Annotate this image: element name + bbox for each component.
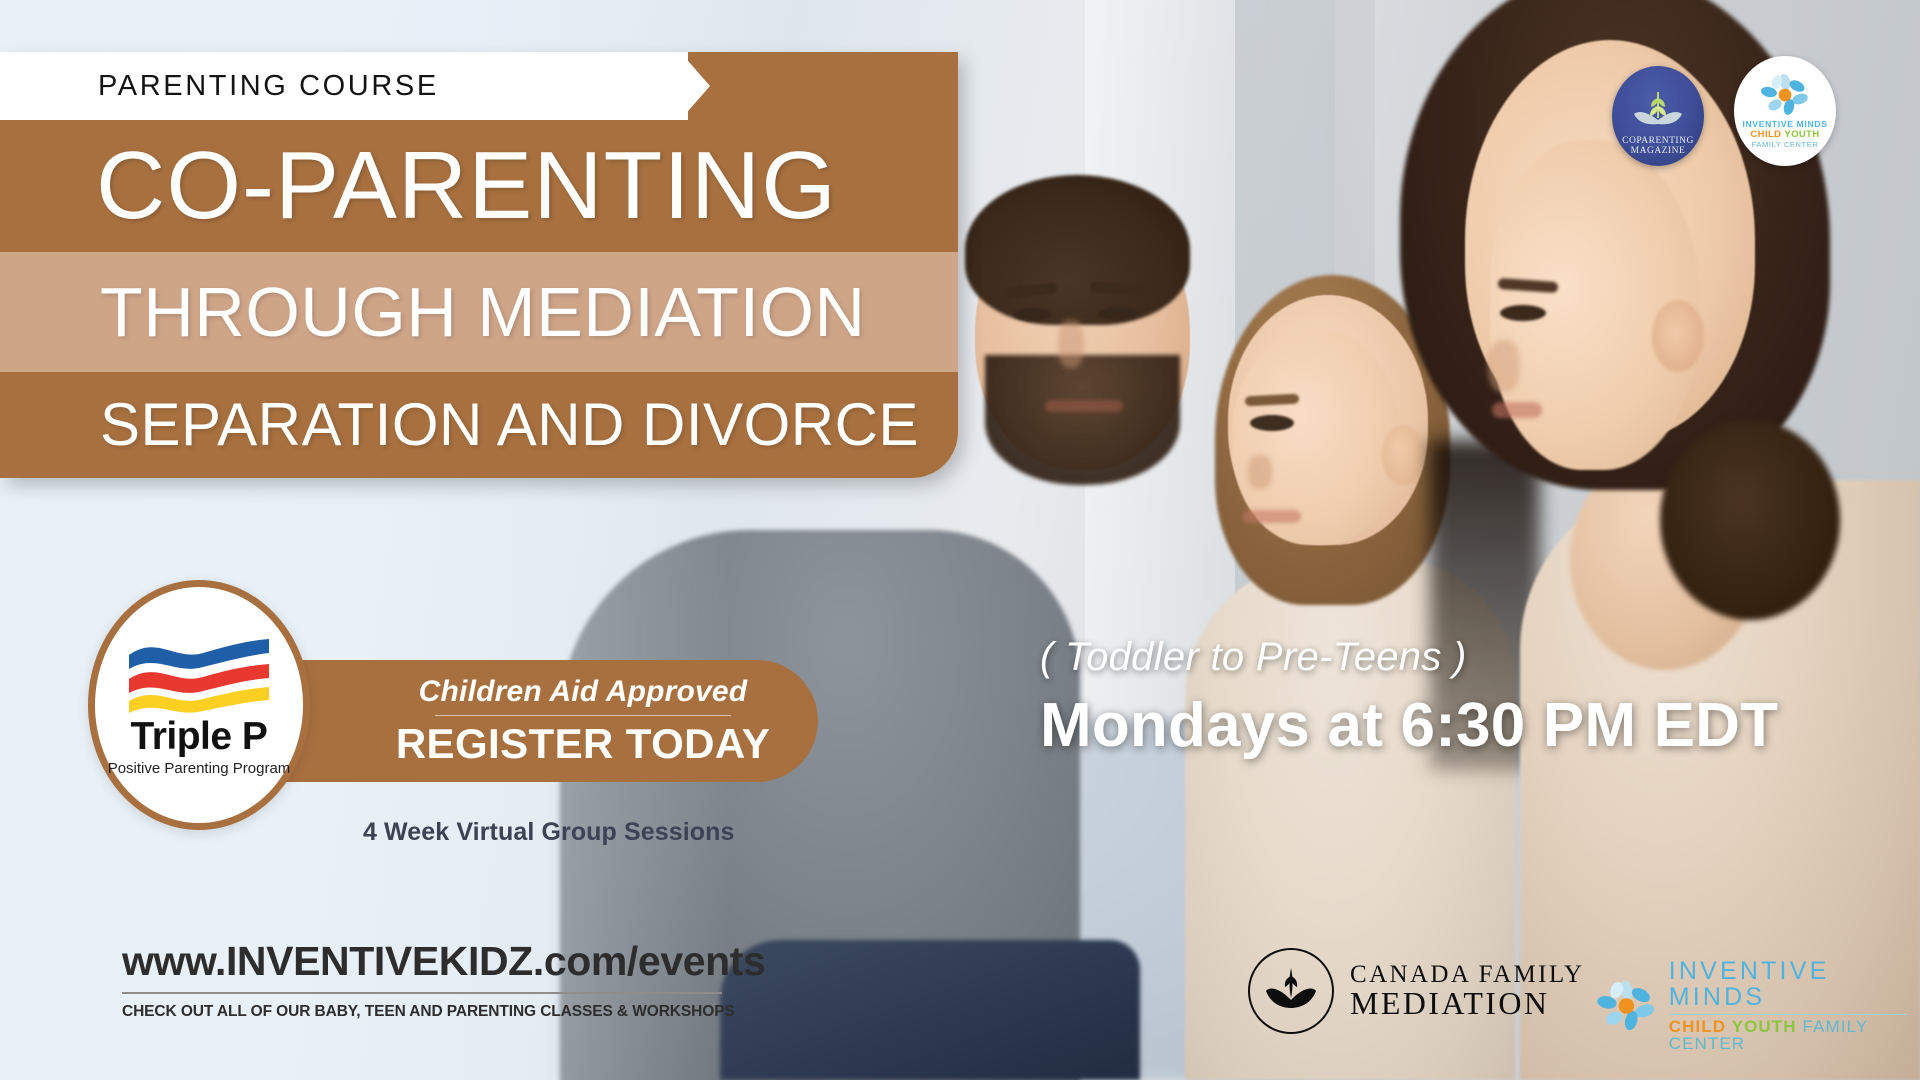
im-footer-divider	[1669, 1014, 1907, 1015]
inventive-minds-badge[interactable]: INVENTIVE MINDS CHILD YOUTH FAMILY CENTE…	[1734, 56, 1836, 166]
flower-icon	[1596, 977, 1657, 1035]
title-band-primary: CO-PARENTING	[0, 120, 958, 252]
inventive-minds-footer-logo: INVENTIVE MINDS CHILD YOUTH FAMILY CENTE…	[1596, 958, 1920, 1053]
website-tagline: CHECK OUT ALL OF OUR BABY, TEEN AND PARE…	[122, 1003, 722, 1021]
inventive-badge-youth: YOUTH	[1784, 129, 1819, 140]
inventive-badge-line2: CHILD YOUTH	[1750, 129, 1819, 140]
kicker-row: PARENTING COURSE	[0, 52, 958, 120]
title-band-secondary: THROUGH MEDIATION	[0, 252, 958, 372]
subtitle-line: THROUGH MEDIATION	[0, 277, 866, 347]
cfm-wordmark: CANADA FAMILY MEDIATION	[1350, 962, 1585, 1020]
poster-canvas: PARENTING COURSE CO-PARENTING THROUGH ME…	[0, 0, 1920, 1080]
inventive-badge-line1: INVENTIVE MINDS	[1742, 119, 1827, 129]
cfm-line2: MEDIATION	[1350, 987, 1585, 1020]
triple-p-brushstrokes-icon	[123, 633, 275, 713]
schedule-block: ( Toddler to Pre-Teens ) Mondays at 6:30…	[1040, 635, 1778, 761]
flower-icon	[1760, 74, 1810, 116]
session-time-label: Mondays at 6:30 PM EDT	[1040, 690, 1778, 761]
wheat-plant-icon	[1631, 88, 1685, 134]
coparenting-magazine-badge[interactable]: COPARENTING MAGAZINE	[1612, 66, 1704, 166]
coparenting-badge-line2: MAGAZINE	[1631, 146, 1686, 156]
im-footer-youth: YOUTH	[1732, 1017, 1797, 1036]
course-title-block: PARENTING COURSE CO-PARENTING THROUGH ME…	[0, 52, 958, 478]
triple-p-tagline: Positive Parenting Program	[108, 760, 291, 777]
website-divider	[122, 992, 722, 994]
register-divider	[435, 715, 731, 716]
website-block: www.INVENTIVEKIDZ.com/events CHECK OUT A…	[122, 938, 722, 1021]
canada-family-mediation-logo: CANADA FAMILY MEDIATION	[1248, 948, 1585, 1034]
age-range-label: ( Toddler to Pre-Teens )	[1040, 635, 1778, 680]
inventive-badge-child: CHILD	[1750, 129, 1781, 140]
wheat-plant-icon	[1262, 962, 1320, 1020]
inventive-badge-line3: FAMILY CENTER	[1752, 140, 1819, 149]
subtitle-line-2: SEPARATION AND DIVORCE	[0, 395, 919, 455]
title-band-tertiary: SEPARATION AND DIVORCE	[0, 372, 958, 478]
register-today-button[interactable]: REGISTER TODAY	[396, 720, 770, 768]
cfm-emblem-circle	[1248, 948, 1334, 1034]
im-footer-child: CHILD	[1669, 1017, 1726, 1036]
children-aid-approved-label: Children Aid Approved	[419, 675, 748, 709]
page-title: CO-PARENTING	[0, 138, 837, 234]
im-footer-line1: INVENTIVE MINDS	[1669, 958, 1920, 1011]
im-footer-line2: CHILD YOUTH FAMILY CENTER	[1669, 1018, 1920, 1054]
triple-p-logo: Triple P Positive Parenting Program	[88, 580, 310, 830]
coparenting-badge-line1: COPARENTING	[1622, 136, 1694, 146]
sessions-label: 4 Week Virtual Group Sessions	[363, 818, 735, 847]
register-today-banner[interactable]: Children Aid Approved REGISTER TODAY	[248, 660, 818, 782]
inventive-minds-wordmark: INVENTIVE MINDS CHILD YOUTH FAMILY CENTE…	[1669, 958, 1920, 1053]
triple-p-name: Triple P	[131, 715, 268, 759]
kicker-label: PARENTING COURSE	[98, 52, 439, 120]
cfm-line1: CANADA FAMILY	[1350, 962, 1585, 988]
website-url[interactable]: www.INVENTIVEKIDZ.com/events	[122, 938, 722, 985]
